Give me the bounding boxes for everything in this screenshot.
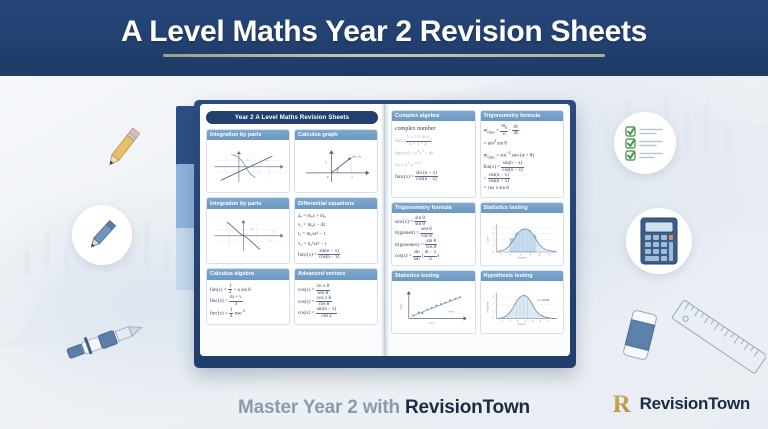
formula-line-fraction: cos(x) = sinsin (m − xn) bbox=[395, 250, 472, 262]
calculus-vector-chart: 2x = h y θ 0 a bbox=[298, 143, 374, 189]
panel-integration-by-parts-2: Integration by parts bbox=[206, 197, 290, 264]
book-banner: Year 2 A Level Maths Revision Sheets bbox=[206, 111, 378, 124]
panel-title: Calculus graph bbox=[295, 130, 377, 140]
formula-line-fraction: cos(x) = cn x θson θ bbox=[298, 284, 374, 296]
formula-line: func(x) = e2e3 + ab bbox=[395, 147, 472, 159]
formula-line-fraction: cos(x) = cos x θcos θ bbox=[298, 296, 374, 308]
svg-text:Ratio: Ratio bbox=[400, 303, 403, 309]
panel-differential-equations: Differential equations a₀ = m₀s + m₀ v₁ … bbox=[294, 197, 378, 264]
book-page-left: Year 2 A Level Maths Revision Sheets Int… bbox=[200, 104, 385, 356]
svg-text:4: 4 bbox=[510, 253, 512, 256]
calculator-icon bbox=[640, 217, 678, 265]
svg-text:3: 3 bbox=[492, 232, 494, 235]
svg-text:7: 7 bbox=[547, 320, 549, 323]
right-panel-row-2: Trigonometry formula sinc(x) = sin θsin … bbox=[391, 202, 564, 270]
logo-r-icon: R bbox=[610, 391, 634, 417]
formula-line-fraction: cos(x) = sin(n − x)cos x bbox=[298, 307, 374, 319]
left-panel-row-2: Integration by parts bbox=[206, 197, 378, 268]
svg-text:2: 2 bbox=[259, 169, 261, 173]
svg-text:x: x bbox=[268, 238, 271, 242]
formula-line-fraction: finc(x) = 14 nso 2 bbox=[210, 307, 286, 319]
pencil-blue-icon bbox=[82, 215, 122, 255]
panel-body: 012 34 246 81012 Count Statistics bbox=[481, 213, 564, 265]
formula-line-fraction: sinc(x) = sin θsin θ bbox=[395, 216, 472, 228]
svg-text:6: 6 bbox=[519, 253, 521, 256]
svg-text:Count: Count bbox=[486, 236, 489, 243]
svg-text:Time: Time bbox=[429, 321, 435, 325]
svg-text:4: 4 bbox=[524, 320, 526, 323]
left-panel-row-3: Calculus algebra fun(x) = 12 + a sin θ f… bbox=[206, 268, 378, 328]
right-panel-row-3: Statistics testing bbox=[391, 270, 564, 338]
panel-body: y x 2 bbox=[207, 140, 289, 192]
svg-text:6: 6 bbox=[539, 320, 541, 323]
panel-body: Ratio level Time bbox=[392, 281, 475, 333]
hypothesis-bell-curve-chart: p = 0.025 0123 123 4567 Probability Stat… bbox=[484, 284, 561, 330]
panel-title: Integration by parts bbox=[207, 198, 289, 208]
svg-text:y: y bbox=[246, 157, 249, 161]
formula-line-fraction: = cos(n − x)cos(n − x) bbox=[484, 173, 561, 185]
svg-text:3: 3 bbox=[492, 295, 494, 298]
svg-text:0: 0 bbox=[492, 318, 494, 321]
svg-text:Statistic: Statistic bbox=[517, 323, 526, 326]
book-pages: Year 2 A Level Maths Revision Sheets Int… bbox=[200, 104, 570, 356]
panel-advanced-vectors: Advanced vectors cos(x) = cn x θson θ co… bbox=[294, 268, 378, 324]
panel-statistics-testing-scatter: Statistics testing bbox=[391, 270, 476, 334]
formula-line-fraction: fnn(x) = sin(n − x)cos(n − x) bbox=[484, 161, 561, 173]
svg-text:0: 0 bbox=[327, 176, 329, 180]
svg-text:θ: θ bbox=[338, 167, 340, 171]
pen-icon bbox=[56, 318, 152, 364]
svg-text:r2: r2 bbox=[272, 229, 274, 233]
panel-calculus-graph: Calculus graph bbox=[294, 129, 378, 193]
panel-body: 2x = h y θ 0 a bbox=[295, 140, 377, 192]
promo-banner: A Level Maths Year 2 Revision Sheets bbox=[0, 0, 768, 429]
svg-text:1: 1 bbox=[492, 245, 494, 248]
formula-line-fraction: func(x) = sin(n − x)cos(n − x) bbox=[298, 249, 374, 261]
open-book: Year 2 A Level Maths Revision Sheets Int… bbox=[176, 92, 588, 380]
svg-text:2: 2 bbox=[492, 238, 494, 241]
panel-trigonometry-formula-2: Trigonometry formula sinc(x) = sin θsin … bbox=[391, 202, 476, 266]
formula-line: = cos x sin θ bbox=[484, 184, 561, 193]
panel-calculus-algebra: Calculus algebra fun(x) = 12 + a sin θ f… bbox=[206, 268, 290, 324]
panel-trigonometry-formula: Trigonometry formula mobes = m0n · dvdt … bbox=[480, 110, 565, 198]
formula-line-fraction: trigometri = sen θcos θ bbox=[395, 227, 472, 239]
panel-title: Statistics testing bbox=[481, 203, 564, 213]
ruler-icon bbox=[672, 300, 766, 378]
book-page-right: Complex algebra complex number func(1 + … bbox=[385, 104, 570, 356]
formula-line: v₂ = n₂²xe² − t bbox=[298, 240, 374, 249]
formula-line-fraction: mobes = m0n · dvdt bbox=[484, 124, 561, 137]
svg-text:0: 0 bbox=[492, 251, 494, 254]
svg-text:3: 3 bbox=[516, 320, 518, 323]
svg-text:1: 1 bbox=[501, 320, 503, 323]
bell-curve-histogram-chart: 012 34 246 81012 Count Statistics bbox=[484, 216, 561, 262]
svg-text:2: 2 bbox=[500, 253, 502, 256]
formula-line: a₀ = m₀s + m₀ bbox=[298, 212, 374, 221]
formula-line-fraction: func(x) = sin (n − x)cos(n − x) bbox=[395, 171, 472, 183]
svg-text:y: y bbox=[324, 160, 327, 164]
svg-text:level: level bbox=[449, 310, 455, 314]
svg-text:8: 8 bbox=[529, 253, 531, 256]
panel-body: p = 0.025 0123 123 4567 Probability Stat… bbox=[481, 281, 564, 333]
svg-text:12: 12 bbox=[548, 253, 551, 256]
panel-title: Advanced vectors bbox=[295, 269, 377, 279]
svg-text:y: y bbox=[250, 226, 253, 230]
panel-body: mobes = m0n · dvdt = arn2 sin θ mobes = … bbox=[481, 121, 564, 196]
panel-body: y r2 x bbox=[207, 209, 289, 261]
pencil-icon bbox=[96, 120, 150, 174]
svg-text:Probability: Probability bbox=[486, 301, 489, 313]
checklist-icon bbox=[623, 123, 667, 163]
integration-graph-chart: y x 2 bbox=[210, 143, 286, 189]
logo-text: RevisionTown bbox=[640, 394, 750, 414]
panel-body: sinc(x) = sin θsin θ trigometri = sen θc… bbox=[392, 213, 475, 265]
panel-statistics-testing-bell: Statistics testing bbox=[480, 202, 565, 266]
panel-body: complex number func(1 + t·v·m·vn + s + p… bbox=[392, 121, 475, 185]
panel-title: Complex algebra bbox=[392, 111, 475, 121]
formula-line: v₁ = m₀s − Δt bbox=[298, 221, 374, 230]
svg-text:2x = h: 2x = h bbox=[352, 155, 361, 159]
left-panel-row-1: Integration by parts bbox=[206, 129, 378, 197]
panel-integration-by-parts: Integration by parts bbox=[206, 129, 290, 193]
formula-line: t₂ = m₂xe² − t bbox=[298, 230, 374, 239]
svg-text:2: 2 bbox=[509, 320, 511, 323]
eraser-icon bbox=[618, 308, 662, 362]
formula-line-fraction: finc(x) = m + v3 bbox=[210, 295, 286, 307]
svg-text:10: 10 bbox=[538, 253, 541, 256]
formula-line: mobes = sin−2 son (φ + θ) bbox=[484, 149, 561, 161]
svg-text:4: 4 bbox=[492, 226, 494, 229]
formula-line-fraction: trigonomery = sin θcos θ bbox=[395, 239, 472, 251]
footer-prefix: Master Year 2 with bbox=[238, 397, 405, 418]
panel-title: Differential equations bbox=[295, 198, 377, 208]
checklist-badge bbox=[614, 112, 676, 174]
svg-text:a: a bbox=[351, 176, 353, 180]
svg-text:5: 5 bbox=[532, 320, 534, 323]
svg-text:1: 1 bbox=[492, 311, 494, 314]
footer-brand: RevisionTown bbox=[405, 397, 530, 418]
title-underline bbox=[163, 54, 605, 57]
complex-number-subtitle: complex number bbox=[395, 124, 472, 135]
panel-title: Integration by parts bbox=[207, 130, 289, 140]
p-value-annotation: p = 0.025 bbox=[537, 298, 549, 302]
scatter-trend-chart: Ratio level Time bbox=[395, 284, 472, 330]
formula-line-fraction: fun(x) = 12 + a sin θ bbox=[210, 284, 286, 296]
pencil-badge bbox=[72, 205, 132, 265]
revisiontown-logo: R RevisionTown bbox=[610, 391, 750, 417]
panel-title: Trigonometry formula bbox=[481, 111, 564, 121]
banner-header: A Level Maths Year 2 Revision Sheets bbox=[0, 0, 768, 76]
right-panel-row-1: Complex algebra complex number func(1 + … bbox=[391, 110, 564, 202]
page-title: A Level Maths Year 2 Revision Sheets bbox=[121, 15, 647, 49]
calculator-badge bbox=[626, 208, 692, 274]
svg-text:2: 2 bbox=[492, 303, 494, 306]
panel-title: Calculus algebra bbox=[207, 269, 289, 279]
title-wrapper: A Level Maths Year 2 Revision Sheets bbox=[121, 15, 647, 61]
svg-text:Statistics: Statistics bbox=[517, 256, 527, 259]
formula-line: ch = e2 e−n×1 bbox=[395, 159, 472, 171]
formula-line: = arn2 sin θ bbox=[484, 137, 561, 149]
formula-line-fraction: func(1 + t·v·m·vn + s + p) bbox=[395, 135, 472, 147]
panel-title: Trigonometry formula bbox=[392, 203, 475, 213]
panel-body: a₀ = m₀s + m₀ v₁ = m₀s − Δt t₂ = m₂xe² −… bbox=[295, 209, 377, 264]
panel-hypothesis-testing: Hypothesis testing bbox=[480, 270, 565, 334]
panel-body: fun(x) = 12 + a sin θ finc(x) = m + v3 f… bbox=[207, 280, 289, 324]
integration-graph-chart-2: y r2 x bbox=[210, 212, 286, 258]
panel-title: Statistics testing bbox=[392, 271, 475, 281]
panel-title: Hypothesis testing bbox=[481, 271, 564, 281]
panel-body: cos(x) = cn x θson θ cos(x) = cos x θcos… bbox=[295, 280, 377, 324]
svg-text:x: x bbox=[265, 159, 268, 163]
panel-complex-algebra: Complex algebra complex number func(1 + … bbox=[391, 110, 476, 198]
